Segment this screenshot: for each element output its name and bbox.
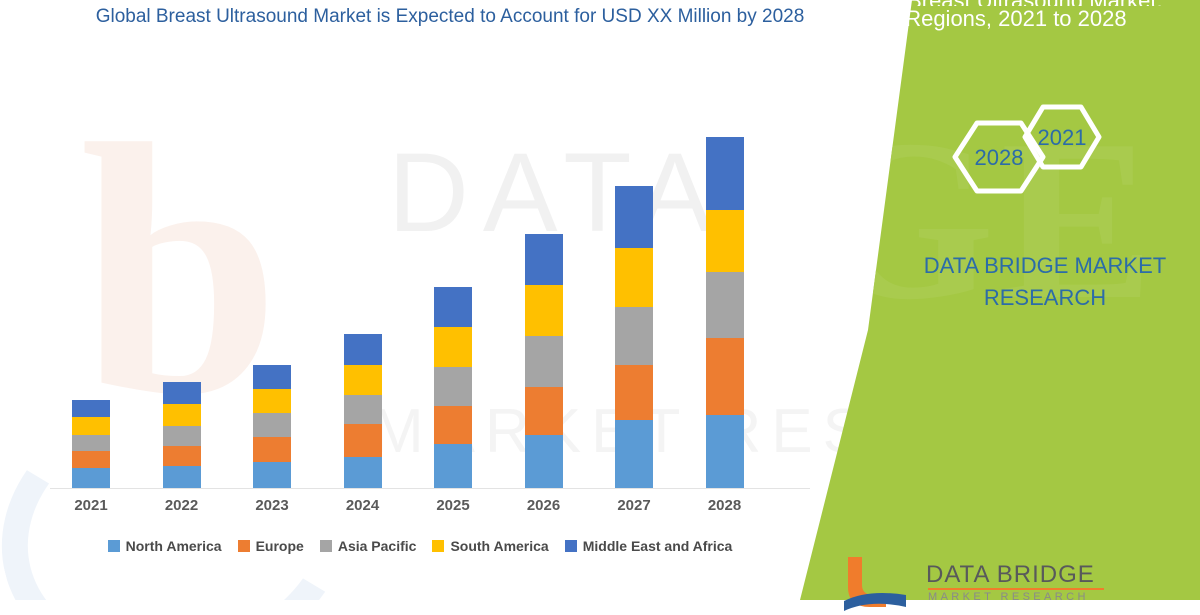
legend-item[interactable]: Asia Pacific — [320, 538, 417, 554]
bar-segment[interactable] — [72, 400, 110, 418]
bar-segment[interactable] — [525, 435, 563, 488]
hexagon-badges: 2028 2021 — [925, 95, 1125, 225]
brand-name-block: DATA BRIDGE MARKET RESEARCH — [880, 250, 1200, 314]
bar-segment[interactable] — [163, 446, 201, 466]
bar-segment[interactable] — [344, 365, 382, 396]
infographic-root: b DATA MARKET RESEARCH Global Breast Ult… — [0, 0, 1200, 600]
bar-segment[interactable] — [434, 444, 472, 488]
x-axis-label-2025: 2025 — [413, 497, 493, 514]
bar-column-2026[interactable] — [525, 234, 563, 488]
bar-segment[interactable] — [163, 382, 201, 404]
legend-label: Middle East and Africa — [583, 538, 733, 554]
bar-column-2021[interactable] — [72, 400, 110, 488]
bar-segment[interactable] — [344, 424, 382, 457]
bar-segment[interactable] — [706, 210, 744, 272]
bar-segment[interactable] — [525, 387, 563, 436]
bar-segment[interactable] — [615, 186, 653, 248]
legend-item[interactable]: Middle East and Africa — [565, 538, 733, 554]
legend-swatch — [565, 540, 577, 552]
bar-segment[interactable] — [525, 234, 563, 285]
bar-segment[interactable] — [706, 338, 744, 415]
chart-legend: North AmericaEuropeAsia PacificSouth Ame… — [40, 538, 800, 554]
bar-segment[interactable] — [72, 435, 110, 450]
x-axis-label-2024: 2024 — [323, 497, 403, 514]
bar-segment[interactable] — [525, 285, 563, 336]
bar-segment[interactable] — [434, 287, 472, 327]
legend-swatch — [320, 540, 332, 552]
bar-column-2028[interactable] — [706, 137, 744, 488]
bar-column-2024[interactable] — [344, 334, 382, 488]
bar-segment[interactable] — [253, 365, 291, 389]
bar-segment[interactable] — [253, 462, 291, 488]
dbmr-logo-rule — [928, 588, 1104, 590]
legend-swatch — [108, 540, 120, 552]
bar-segment[interactable] — [615, 365, 653, 420]
legend-label: South America — [450, 538, 548, 554]
dbmr-logo-subtitle: MARKET RESEARCH — [928, 591, 1089, 603]
bar-segment[interactable] — [253, 413, 291, 437]
bar-segment[interactable] — [344, 395, 382, 424]
bar-segment[interactable] — [163, 466, 201, 488]
chart-plot-area: 20212022202320242025202620272028 — [0, 0, 900, 600]
x-axis-label-2021: 2021 — [51, 497, 131, 514]
hexagon-2028-label: 2028 — [975, 145, 1024, 170]
bar-segment[interactable] — [615, 248, 653, 308]
panel-heading: Global Breast Ultrasound Market, By Regi… — [800, 0, 1200, 32]
legend-swatch — [238, 540, 250, 552]
x-axis-label-2022: 2022 — [142, 497, 222, 514]
dbmr-logo-name: DATA BRIDGE — [926, 561, 1095, 589]
bar-segment[interactable] — [615, 420, 653, 488]
brand-line-1: DATA BRIDGE MARKET — [880, 250, 1200, 282]
bar-segment[interactable] — [72, 417, 110, 435]
chart-baseline — [50, 488, 810, 489]
brand-line-2: RESEARCH — [880, 282, 1200, 314]
bar-segment[interactable] — [72, 451, 110, 469]
bar-segment[interactable] — [253, 437, 291, 461]
bar-segment[interactable] — [434, 367, 472, 407]
x-axis-label-2026: 2026 — [504, 497, 584, 514]
hexagon-svg: 2028 2021 — [925, 95, 1125, 225]
hexagon-2021-label: 2021 — [1038, 125, 1087, 150]
legend-label: Europe — [256, 538, 304, 554]
legend-label: Asia Pacific — [338, 538, 417, 554]
legend-swatch — [432, 540, 444, 552]
bar-segment[interactable] — [525, 336, 563, 387]
bar-segment[interactable] — [344, 334, 382, 365]
bar-segment[interactable] — [706, 137, 744, 210]
bar-segment[interactable] — [706, 415, 744, 488]
dbmr-logo: DATA BRIDGE MARKET RESEARCH — [840, 555, 1180, 615]
bar-column-2027[interactable] — [615, 186, 653, 488]
panel-heading-line: By Regions, 2021 to 2028 — [873, 6, 1126, 31]
legend-item[interactable]: North America — [108, 538, 222, 554]
bar-column-2025[interactable] — [434, 287, 472, 488]
x-axis-label-2028: 2028 — [685, 497, 765, 514]
bar-segment[interactable] — [706, 272, 744, 338]
dbmr-logo-mark-icon — [840, 555, 910, 611]
legend-label: North America — [126, 538, 222, 554]
bar-column-2023[interactable] — [253, 365, 291, 488]
bar-segment[interactable] — [163, 404, 201, 426]
bar-segment[interactable] — [72, 468, 110, 488]
x-axis-label-2023: 2023 — [232, 497, 312, 514]
legend-item[interactable]: Europe — [238, 538, 304, 554]
bar-segment[interactable] — [253, 389, 291, 413]
bar-segment[interactable] — [434, 327, 472, 367]
legend-item[interactable]: South America — [432, 538, 548, 554]
bar-segment[interactable] — [344, 457, 382, 488]
bar-segment[interactable] — [434, 406, 472, 443]
x-axis-label-2027: 2027 — [594, 497, 674, 514]
bar-segment[interactable] — [163, 426, 201, 446]
bar-column-2022[interactable] — [163, 382, 201, 488]
bar-segment[interactable] — [615, 307, 653, 364]
